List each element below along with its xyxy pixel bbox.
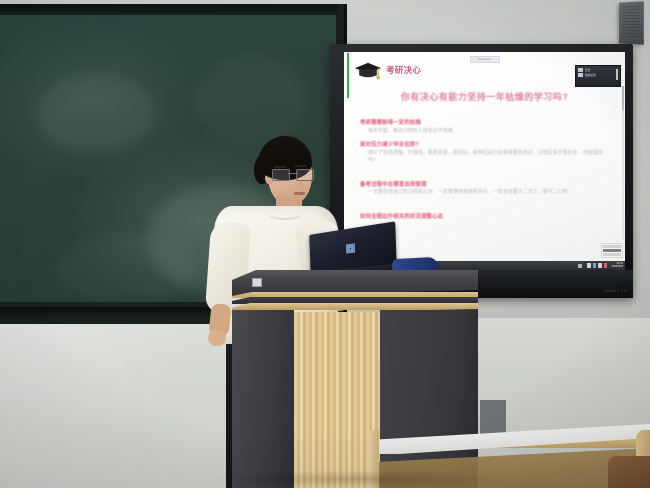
slide-item-1-body: 每天早起、晚自习带的人这些过于枯燥 bbox=[368, 128, 609, 136]
shirt-collar bbox=[268, 206, 302, 220]
slide-title: 考研决心 bbox=[386, 64, 421, 76]
overlay-thumb-icon bbox=[578, 73, 583, 77]
speaker-icon bbox=[619, 1, 644, 44]
overlay-row-2[interactable]: 放映设置 bbox=[576, 72, 620, 78]
panel-row bbox=[603, 245, 621, 248]
panel-row bbox=[603, 253, 621, 256]
presenter-eyebrow-left bbox=[274, 166, 287, 168]
slide-top-chip: PowerPoint bbox=[470, 56, 500, 63]
windows-logo-icon bbox=[346, 243, 355, 253]
display-brand-label: SMART TV bbox=[604, 288, 627, 293]
glasses-lens-left bbox=[272, 169, 290, 181]
browser-icon[interactable] bbox=[593, 263, 597, 268]
slide-spacer bbox=[360, 170, 609, 180]
ppt-icon[interactable] bbox=[604, 263, 608, 268]
overlay-row-1-label: 目录 bbox=[585, 68, 590, 72]
start-icon[interactable] bbox=[578, 264, 582, 268]
graduation-cap-icon bbox=[353, 60, 383, 82]
slide-item-3-heading: 备考过程中在哪里自我管理 bbox=[360, 180, 609, 188]
podium-trim-dark bbox=[232, 297, 478, 304]
slide-item-1-heading: 考研需要耐得一定的枯燥 bbox=[360, 118, 609, 126]
wooden-chair bbox=[608, 456, 650, 488]
slide-item-4-heading: 如何全程边外相关的状况调整心态 bbox=[360, 212, 609, 220]
presenter-eyebrow-right bbox=[294, 165, 307, 167]
speaker-grill bbox=[622, 6, 640, 40]
slide-scrollbar-thumb[interactable] bbox=[622, 86, 624, 110]
desk-top-surface bbox=[368, 424, 650, 454]
taskbar-clock[interactable]: 20:41 2024/6/18 bbox=[611, 263, 623, 269]
slide-heading: 你有决心有能力坚持一年枯燥的学习吗? bbox=[344, 90, 625, 103]
slide-overlay-panel[interactable]: 目录 放映设置 bbox=[575, 65, 621, 87]
glasses-icon bbox=[272, 169, 314, 180]
glasses-lens-right bbox=[296, 169, 314, 181]
floor-shadow bbox=[210, 470, 510, 488]
overlay-thumb-icon bbox=[578, 68, 583, 72]
overlay-row-2-label: 放映设置 bbox=[585, 73, 596, 77]
slide-spacer bbox=[360, 202, 609, 212]
slide-body: 考研需要耐得一定的枯燥 每天早起、晚自习带的人这些过于枯燥 面对压力减少毕业在即… bbox=[360, 118, 609, 221]
presenter-hand-left bbox=[208, 330, 226, 346]
presenter-mouth bbox=[294, 192, 305, 195]
chalk-smudge bbox=[196, 54, 306, 144]
folder-icon[interactable] bbox=[587, 263, 591, 268]
chalk-smudge bbox=[56, 234, 196, 304]
chalkboard-top-rail bbox=[0, 4, 338, 15]
podium-body-left bbox=[232, 310, 294, 488]
chalk-smudge bbox=[36, 74, 156, 154]
laptop[interactable] bbox=[310, 228, 396, 276]
podium-trim-wood-lower bbox=[232, 303, 478, 310]
wps-icon[interactable] bbox=[598, 263, 602, 268]
clock-date: 2024/6/18 bbox=[611, 266, 623, 269]
screenshot-root: 考研决心 PowerPoint 你有决心有能力坚持一年枯燥的学习吗? 考研需要耐… bbox=[0, 0, 650, 488]
podium-control-panel[interactable] bbox=[252, 278, 262, 287]
kebab-menu-icon[interactable] bbox=[616, 69, 618, 80]
slide-item-2-heading: 面对压力减少毕业在即? bbox=[360, 140, 609, 148]
notification-panel[interactable] bbox=[601, 243, 623, 258]
slide-item-2-body: 减少了如何调整、打游戏、看剧追星、逛街玩、各种压自己在家看要在的过、习惯压多于我… bbox=[368, 150, 609, 165]
panel-row bbox=[603, 249, 621, 252]
presenter-nose bbox=[300, 180, 306, 190]
slide-item-3-body: 一定要忍住自己的习惯和之外、一定要懂得舍掉很多行、一定会在要于二次了、要不二心吧 bbox=[368, 189, 609, 197]
